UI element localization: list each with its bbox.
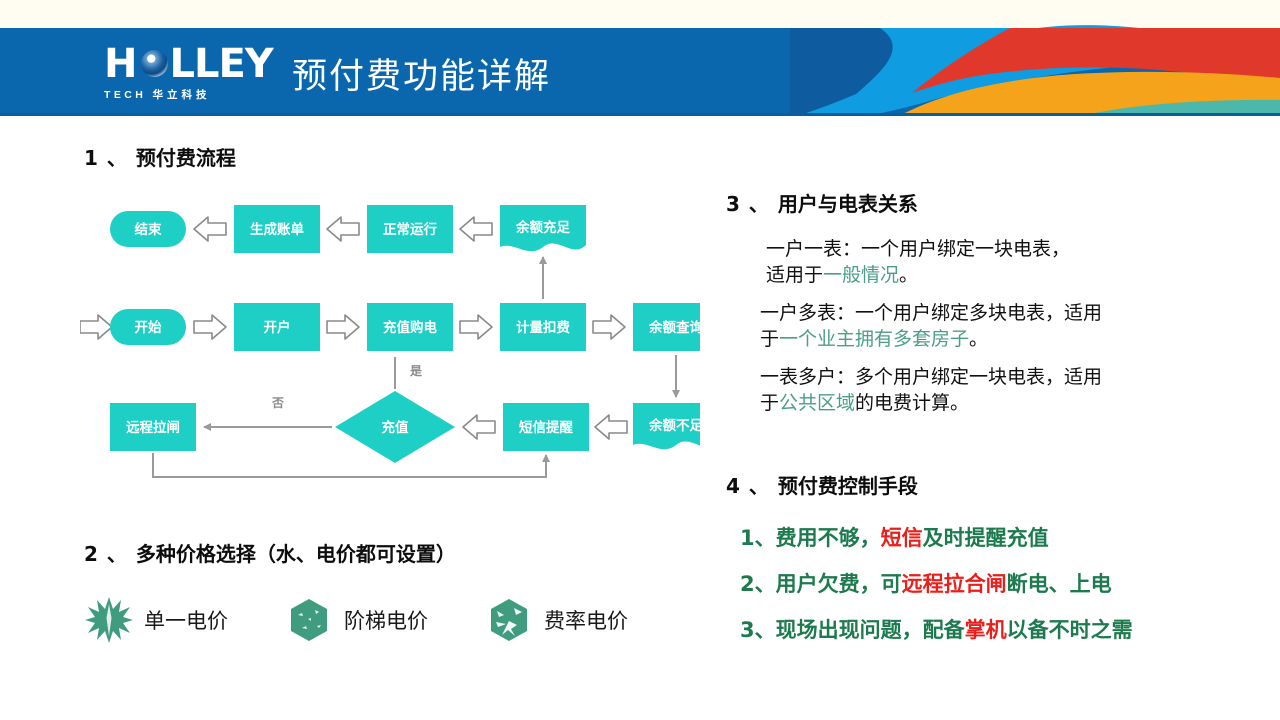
section-heading-3: 3、用户与电表关系 bbox=[726, 188, 918, 217]
relation-2-highlight: 公共区域 bbox=[779, 392, 855, 414]
control-1-number: 2、 bbox=[740, 572, 776, 596]
flow-node-open-account-label: 开户 bbox=[264, 319, 291, 336]
control-1-post: 断电、上电 bbox=[1007, 572, 1112, 596]
control-2-highlight: 掌机 bbox=[965, 618, 1007, 642]
price-options-row: 单一电价 阶梯电价 费率电价 bbox=[84, 592, 704, 652]
control-1-highlight: 远程拉合闸 bbox=[902, 572, 1007, 596]
section-1-number: 1、 bbox=[84, 146, 136, 170]
flow-node-balance-insufficient-label: 余额不足 bbox=[648, 417, 700, 434]
flow-node-metering-deduct-label: 计量扣费 bbox=[516, 319, 570, 336]
flow-node-recharge-buy-label: 充值购电 bbox=[383, 319, 437, 336]
relation-0-highlight: 一般情况 bbox=[823, 264, 899, 286]
flow-node-sms-remind: 短信提醒 bbox=[503, 403, 589, 451]
price-option-rate-label: 费率电价 bbox=[544, 605, 628, 635]
hexagon-rate-icon bbox=[484, 595, 534, 645]
section-3-number: 3、 bbox=[726, 192, 778, 216]
flow-node-recharge-decision: 充值 bbox=[335, 391, 455, 463]
flow-arrow-sms-to-decision bbox=[463, 415, 495, 439]
section-heading-2: 2、多种价格选择（水、电价都可设置） bbox=[84, 538, 456, 567]
flow-arrow-bill-to-end bbox=[194, 217, 226, 241]
control-item-2: 2、用户欠费，可远程拉合闸断电、上电 bbox=[740, 568, 1112, 598]
section-3-title: 用户与电表关系 bbox=[778, 192, 918, 216]
price-option-tiered-label: 阶梯电价 bbox=[344, 605, 428, 635]
flow-node-balance-insufficient: 余额不足 bbox=[633, 403, 700, 449]
flow-node-metering-deduct: 计量扣费 bbox=[500, 303, 586, 351]
flow-node-generate-bill: 生成账单 bbox=[234, 205, 320, 253]
flow-node-remote-trip-label: 远程拉闸 bbox=[126, 419, 180, 436]
page-title: 预付费功能详解 bbox=[292, 48, 551, 99]
control-0-number: 1、 bbox=[740, 526, 776, 550]
price-option-rate[interactable]: 费率电价 bbox=[484, 592, 628, 648]
flow-node-balance-sufficient-label: 余额充足 bbox=[515, 219, 570, 236]
relation-item-one-to-many: 一户多表：一个用户绑定多块电表，适用于一个业主拥有多套房子。 bbox=[760, 300, 1120, 352]
flow-node-normal-run-label: 正常运行 bbox=[383, 221, 437, 238]
section-heading-4: 4、预付费控制手段 bbox=[726, 470, 918, 499]
control-0-highlight: 短信 bbox=[881, 526, 923, 550]
relation-2-tail: 的电费计算。 bbox=[855, 392, 969, 414]
header-banner: HOLLEY TECH 华立科技 预付费功能详解 bbox=[0, 0, 1280, 120]
starburst-icon bbox=[84, 595, 134, 645]
flow-arrow-into-start bbox=[80, 315, 112, 339]
flow-arrow-sufficient-to-run bbox=[460, 217, 492, 241]
flow-node-balance-query-label: 余额查询 bbox=[648, 319, 700, 336]
flow-node-recharge-buy: 充值购电 bbox=[367, 303, 453, 351]
price-option-tiered[interactable]: 阶梯电价 bbox=[284, 592, 428, 648]
prepay-process-flowchart: 结束 生成账单 正常运行 余额充足 开始 开户 bbox=[80, 185, 700, 485]
section-heading-1: 1、预付费流程 bbox=[84, 142, 236, 171]
section-4-number: 4、 bbox=[726, 474, 778, 498]
header-decorative-bands bbox=[0, 0, 1280, 120]
relation-1-highlight: 一个业主拥有多套房子 bbox=[779, 328, 969, 350]
flow-line-feedback-loop bbox=[153, 453, 546, 477]
flow-arrow-open-to-recharge bbox=[327, 315, 359, 339]
section-4-title: 预付费控制手段 bbox=[778, 474, 918, 498]
flow-arrow-run-to-bill bbox=[327, 217, 359, 241]
flow-node-start: 开始 bbox=[110, 309, 186, 345]
control-2-pre: 现场出现问题，配备 bbox=[776, 618, 965, 642]
flow-arrow-recharge-to-metering bbox=[460, 315, 492, 339]
relation-0-tail: 。 bbox=[899, 264, 918, 286]
control-item-1: 1、费用不够，短信及时提醒充值 bbox=[740, 522, 1049, 552]
flow-node-balance-query: 余额查询 bbox=[633, 303, 700, 351]
flow-branch-label-no: 否 bbox=[271, 396, 284, 410]
control-0-pre: 费用不够， bbox=[776, 526, 881, 550]
relation-item-one-to-one: 一户一表：一个用户绑定一块电表，适用于一般情况。 bbox=[766, 236, 1076, 288]
control-2-post: 以备不时之需 bbox=[1007, 618, 1133, 642]
price-option-single[interactable]: 单一电价 bbox=[84, 592, 228, 648]
section-2-number: 2、 bbox=[84, 542, 136, 566]
hexagon-steps-icon bbox=[284, 595, 334, 645]
flow-node-balance-sufficient: 余额充足 bbox=[500, 205, 586, 251]
relation-1-tail: 。 bbox=[969, 328, 988, 350]
control-1-pre: 用户欠费，可 bbox=[776, 572, 902, 596]
control-0-post: 及时提醒充值 bbox=[923, 526, 1049, 550]
flow-arrow-metering-to-query bbox=[593, 315, 625, 339]
flow-node-open-account: 开户 bbox=[234, 303, 320, 351]
flow-node-remote-trip: 远程拉闸 bbox=[110, 403, 196, 451]
flow-node-start-label: 开始 bbox=[135, 319, 162, 336]
section-2-title: 多种价格选择（水、电价都可设置） bbox=[136, 542, 456, 566]
relation-item-many-to-one: 一表多户：多个用户绑定一块电表，适用于公共区域的电费计算。 bbox=[760, 364, 1120, 416]
control-2-number: 3、 bbox=[740, 618, 776, 642]
price-option-single-label: 单一电价 bbox=[144, 605, 228, 635]
flow-branch-label-yes: 是 bbox=[409, 364, 423, 378]
flow-arrow-start-to-open bbox=[194, 315, 226, 339]
flow-arrow-insufficient-to-sms bbox=[595, 415, 627, 439]
flow-node-end-label: 结束 bbox=[135, 221, 162, 238]
flow-node-normal-run: 正常运行 bbox=[367, 205, 453, 253]
flow-node-sms-remind-label: 短信提醒 bbox=[519, 419, 573, 436]
section-1-title: 预付费流程 bbox=[136, 146, 236, 170]
flow-node-generate-bill-label: 生成账单 bbox=[250, 221, 304, 238]
flow-node-recharge-decision-label: 充值 bbox=[382, 419, 409, 436]
control-item-3: 3、现场出现问题，配备掌机以备不时之需 bbox=[740, 614, 1133, 644]
flow-node-end: 结束 bbox=[110, 211, 186, 247]
